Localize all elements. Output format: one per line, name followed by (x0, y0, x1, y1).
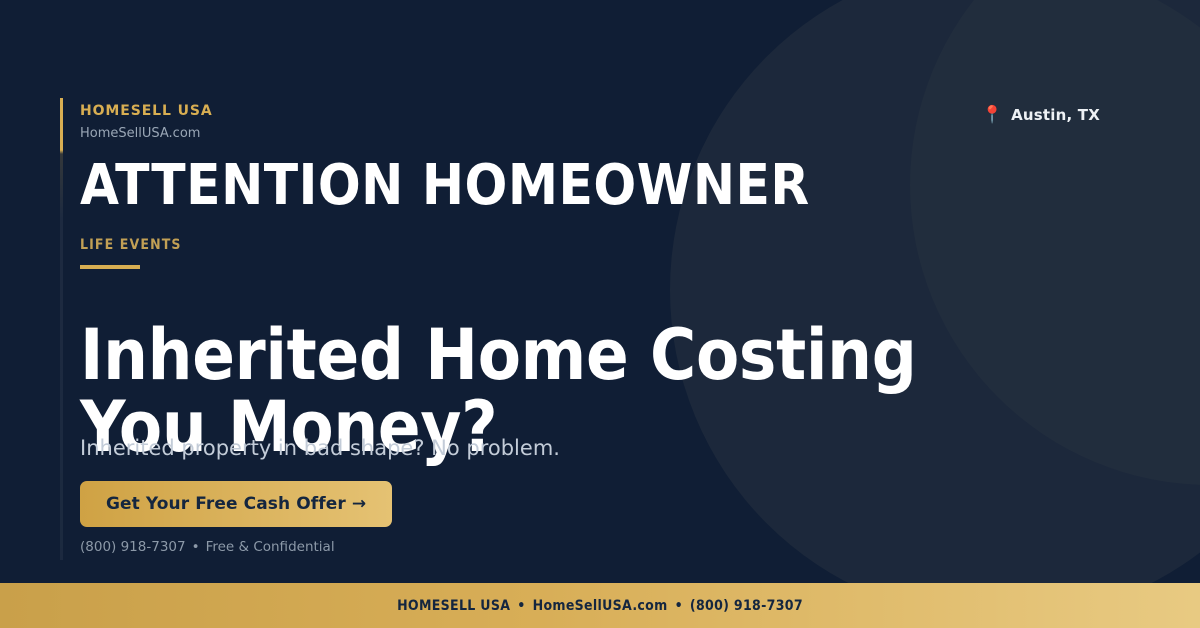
left-accent-rule (60, 98, 63, 560)
footer-separator-2: • (668, 598, 690, 614)
header-row: HOMESELL USA HomeSellUSA.com 📍 Austin, T… (80, 104, 1120, 140)
ad-banner: HOMESELL USA HomeSellUSA.com 📍 Austin, T… (0, 0, 1200, 628)
footer-brand: HOMESELL USA (397, 598, 510, 614)
brand-block: HOMESELL USA HomeSellUSA.com (80, 104, 213, 140)
trust-separator: • (186, 539, 206, 555)
attention-heading: ATTENTION HOMEOWNER (80, 158, 810, 214)
footer-bar: HOMESELL USA•HomeSellUSA.com•(800) 918-7… (0, 583, 1200, 628)
trust-line: (800) 918-7307•Free & Confidential (80, 541, 335, 555)
footer-separator-1: • (510, 598, 532, 614)
eyebrow-group: LIFE EVENTS (80, 238, 182, 269)
footer-url[interactable]: HomeSellUSA.com (533, 598, 668, 614)
brand-name: HOMESELL USA (80, 104, 213, 118)
location-label: Austin, TX (1011, 106, 1100, 124)
cta-button[interactable]: Get Your Free Cash Offer → (80, 481, 392, 527)
trust-note: Free & Confidential (206, 539, 335, 555)
location-pin-icon: 📍 (982, 107, 1003, 124)
eyebrow-underline (80, 265, 140, 269)
brand-url: HomeSellUSA.com (80, 127, 213, 140)
trust-phone[interactable]: (800) 918-7307 (80, 539, 186, 555)
footer-text: HOMESELL USA•HomeSellUSA.com•(800) 918-7… (397, 598, 803, 614)
subheadline: Inherited property in bad shape? No prob… (80, 436, 560, 461)
headline-line-1: Inherited Home Costing (80, 314, 917, 396)
location-badge: 📍 Austin, TX (982, 106, 1120, 124)
eyebrow-label: LIFE EVENTS (80, 238, 182, 252)
ad-content: HOMESELL USA HomeSellUSA.com 📍 Austin, T… (80, 0, 1120, 583)
footer-phone[interactable]: (800) 918-7307 (690, 598, 803, 614)
